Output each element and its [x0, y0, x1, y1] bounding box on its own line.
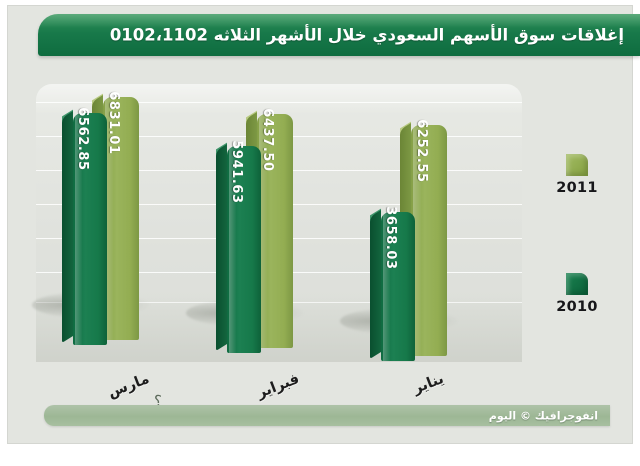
legend-item-2010[interactable]: 2010	[547, 273, 607, 315]
infographic-root: إغلاقات سوق الأسهم السعودي خلال الأشهر ا…	[0, 0, 640, 466]
footer-bar: انفوجرافيك © اليوم	[44, 405, 610, 426]
legend-swatch-2010-icon	[566, 273, 588, 295]
legend-swatch-2011-icon	[566, 154, 588, 176]
legend-label-2011: 2011	[547, 180, 607, 196]
legend-item-2011[interactable]: 2011	[547, 154, 607, 196]
legend-label-2010: 2010	[547, 299, 607, 315]
chart-legend: 2011 2010	[0, 0, 640, 466]
footer-credit: انفوجرافيك © اليوم	[489, 409, 598, 422]
